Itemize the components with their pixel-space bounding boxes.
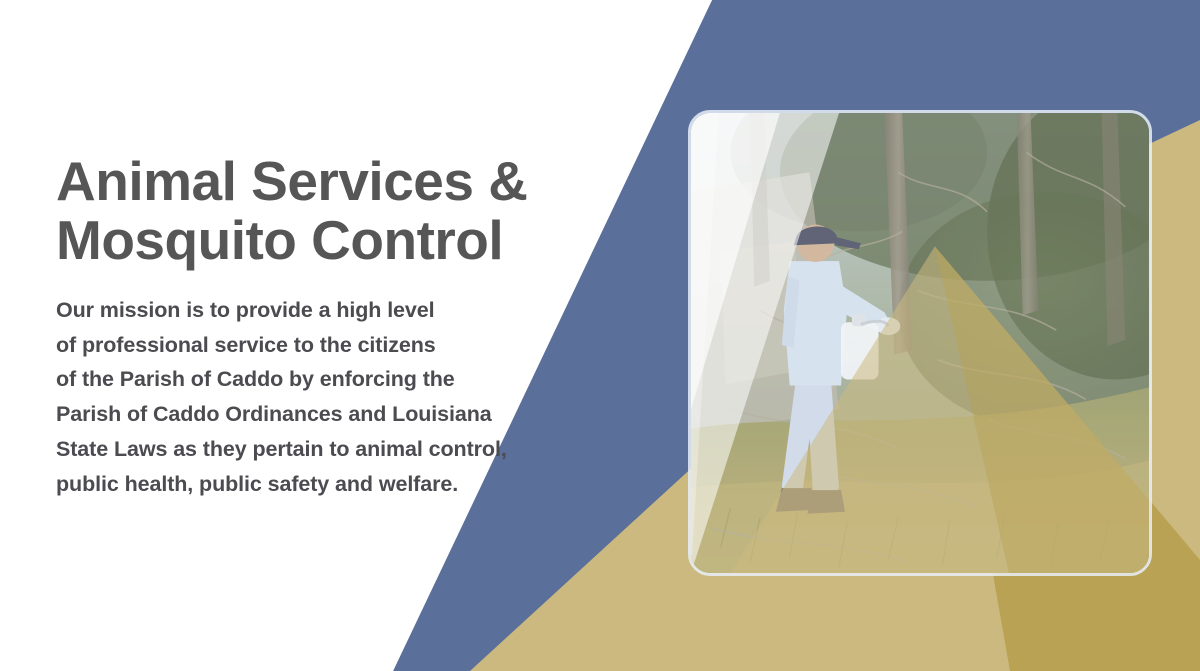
photo-image <box>691 113 1149 573</box>
page-title: Animal Services & Mosquito Control <box>56 152 656 271</box>
text-column: Animal Services & Mosquito Control Our m… <box>56 152 656 502</box>
mission-statement: Our mission is to provide a high level o… <box>56 293 656 502</box>
photo-card <box>688 110 1152 576</box>
slide-canvas: Animal Services & Mosquito Control Our m… <box>0 0 1200 671</box>
